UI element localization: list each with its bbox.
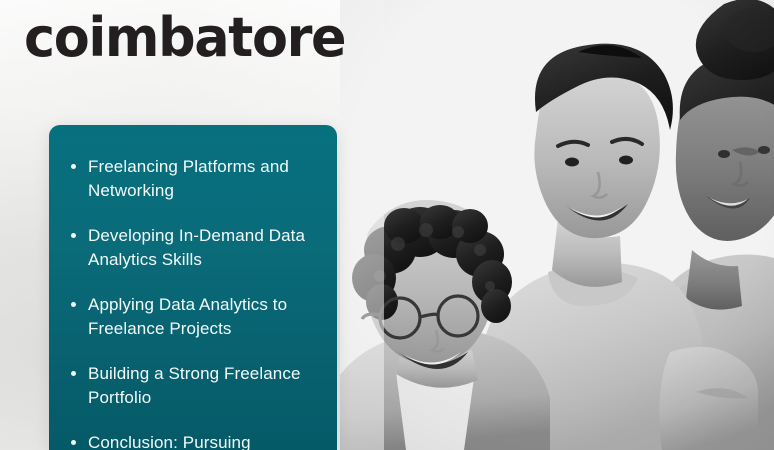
bullet-dot-icon <box>71 233 76 238</box>
team-photo <box>340 0 774 450</box>
list-item-label: Applying Data Analytics to Freelance Pro… <box>88 295 287 338</box>
list-item: Developing In-Demand Data Analytics Skil… <box>65 224 321 271</box>
photo-illustration <box>340 0 774 450</box>
list-item-label: Freelancing Platforms and Networking <box>88 157 289 200</box>
bullet-dot-icon <box>71 371 76 376</box>
list-item-label: Conclusion: Pursuing <box>88 433 251 450</box>
topics-card: Freelancing Platforms and Networking Dev… <box>49 125 337 450</box>
page-title: coimbatore <box>24 6 345 70</box>
list-item: Conclusion: Pursuing <box>65 431 321 450</box>
list-item: Applying Data Analytics to Freelance Pro… <box>65 293 321 340</box>
topics-list: Freelancing Platforms and Networking Dev… <box>65 155 321 450</box>
list-item: Freelancing Platforms and Networking <box>65 155 321 202</box>
list-item-label: Developing In-Demand Data Analytics Skil… <box>88 226 305 269</box>
bullet-dot-icon <box>71 164 76 169</box>
list-item: Building a Strong Freelance Portfolio <box>65 362 321 409</box>
bullet-dot-icon <box>71 440 76 445</box>
list-item-label: Building a Strong Freelance Portfolio <box>88 364 301 407</box>
slide-canvas: coimbatore Freelancing Platforms and Net… <box>0 0 774 450</box>
bullet-dot-icon <box>71 302 76 307</box>
